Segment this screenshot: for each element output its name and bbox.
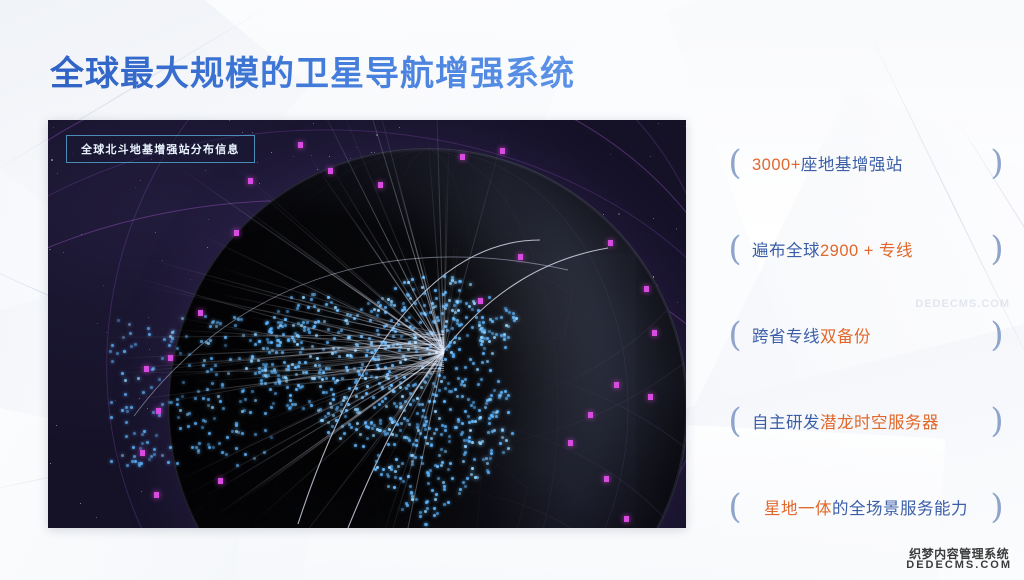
feature-item[interactable]: ( 星地一体的全场景服务能力 ) (726, 464, 1006, 550)
station-dot (224, 344, 227, 347)
station-dot (513, 319, 516, 322)
station-dot (381, 400, 384, 403)
station-dot (362, 445, 365, 448)
station-marker (248, 178, 253, 184)
station-dot (462, 481, 465, 484)
station-dot (461, 395, 464, 398)
station-dot (399, 361, 402, 364)
feature-text-part: 的全场景服务能力 (832, 500, 968, 518)
station-dot (241, 390, 244, 393)
station-dot (458, 280, 461, 283)
station-dot (373, 424, 376, 427)
station-dot (147, 327, 150, 330)
station-dot (486, 462, 489, 465)
station-dot (438, 417, 441, 420)
station-dot (331, 425, 334, 428)
station-dot (117, 319, 120, 322)
station-dot (481, 440, 484, 443)
station-dot (434, 464, 437, 467)
station-dot (150, 455, 153, 458)
bracket-right-icon: ) (988, 404, 1006, 438)
station-dot (489, 369, 492, 372)
station-dot (339, 437, 342, 440)
station-dot (459, 300, 462, 303)
station-dot (123, 350, 126, 353)
station-dot (240, 318, 243, 321)
station-dot (276, 339, 279, 342)
station-dot (483, 347, 486, 350)
station-marker (478, 298, 483, 304)
station-dot (482, 352, 485, 355)
station-dot (452, 353, 455, 356)
station-marker (500, 148, 505, 154)
station-dot (481, 340, 484, 343)
feature-text-part: 双备份 (820, 328, 871, 346)
station-marker (378, 182, 383, 188)
feature-text: 跨省专线双备份 (744, 323, 988, 347)
station-dot (124, 393, 127, 396)
station-marker (588, 412, 593, 418)
station-dot (426, 507, 429, 510)
station-marker (218, 478, 223, 484)
station-dot (491, 430, 494, 433)
feature-text-part: 星地一体 (764, 500, 832, 518)
bracket-left-icon: ( (726, 232, 744, 266)
station-dot (289, 406, 292, 409)
station-dot (179, 409, 182, 412)
station-dot (464, 485, 467, 488)
station-dot (346, 322, 349, 325)
feature-text-part: 自主研发 (752, 414, 820, 432)
station-dot (457, 420, 460, 423)
station-dot (299, 386, 302, 389)
station-dot (476, 368, 479, 371)
station-dot (373, 406, 376, 409)
station-dot (444, 425, 447, 428)
station-dot (226, 436, 229, 439)
station-dot (176, 462, 179, 465)
station-dot (426, 471, 429, 474)
station-dot (507, 336, 510, 339)
station-dot (155, 434, 158, 437)
station-dot (505, 397, 508, 400)
station-dot (461, 431, 464, 434)
station-dot (116, 352, 119, 355)
station-dot (335, 419, 338, 422)
station-dot (152, 411, 155, 414)
station-dot (150, 386, 153, 389)
station-dot (504, 346, 507, 349)
bracket-right-icon: ) (988, 318, 1006, 352)
station-dot (244, 453, 247, 456)
station-dot (310, 298, 313, 301)
station-dot (293, 340, 296, 343)
station-dot (405, 436, 408, 439)
station-marker (624, 516, 629, 522)
bracket-left-icon: ( (726, 146, 744, 180)
bracket-right-icon: ) (988, 146, 1006, 180)
station-dot (469, 358, 472, 361)
station-dot (493, 336, 496, 339)
station-dot (468, 436, 471, 439)
station-dot (498, 396, 501, 399)
station-dot (433, 507, 436, 510)
station-dot (121, 454, 124, 457)
station-dot (467, 398, 470, 401)
station-dot (472, 401, 475, 404)
station-dot (468, 421, 471, 424)
station-dot (138, 462, 141, 465)
station-dot (344, 415, 347, 418)
map-legend-badge: 全球北斗地基增强站分布信息 (66, 135, 255, 163)
station-dot (274, 392, 277, 395)
station-dot (377, 454, 380, 457)
station-dot (205, 341, 208, 344)
feature-text: 自主研发潜龙时空服务器 (744, 409, 988, 433)
watermark: 织梦内容管理系统 DEDECMS.COM (906, 548, 1012, 572)
station-dot (126, 464, 129, 467)
station-marker (154, 492, 159, 498)
station-dot (470, 473, 473, 476)
station-dot (284, 324, 287, 327)
station-dot (359, 433, 362, 436)
station-dot (234, 324, 237, 327)
station-dot (211, 382, 214, 385)
station-dot (508, 311, 511, 314)
station-dot (487, 471, 490, 474)
slide-root: 全球最大规模的卫星导航增强系统 (0, 0, 1024, 580)
station-marker (168, 355, 173, 361)
station-dot (490, 449, 493, 452)
station-dot (511, 432, 514, 435)
station-dot (451, 477, 454, 480)
station-dot (131, 460, 134, 463)
bracket-left-icon: ( (726, 404, 744, 438)
station-marker (140, 450, 145, 456)
station-dot (486, 360, 489, 363)
station-dot (128, 323, 131, 326)
station-dot (153, 448, 156, 451)
bracket-left-icon: ( (726, 490, 744, 524)
station-dot (176, 347, 179, 350)
station-dot (366, 437, 369, 440)
station-dot (343, 432, 346, 435)
feature-text-part: 3000+ (752, 156, 801, 174)
station-dot (465, 302, 468, 305)
station-dot (503, 333, 506, 336)
station-dot (435, 428, 438, 431)
feature-list: ( 3000+座地基增强站 ) ( 遍布全球2900 + 专线 ) ( 跨省专线… (726, 120, 1006, 550)
station-dot (302, 296, 305, 299)
station-dot (109, 350, 112, 353)
station-dot (387, 298, 390, 301)
station-dot (146, 441, 149, 444)
station-dot (472, 362, 475, 365)
feature-text: 星地一体的全场景服务能力 (744, 495, 988, 519)
station-dot (130, 406, 133, 409)
station-dot (500, 316, 503, 319)
station-marker (144, 366, 149, 372)
faint-watermark: DEDECMS.COM (915, 298, 1010, 310)
station-dot (464, 451, 467, 454)
station-dot (478, 324, 481, 327)
station-dot (408, 423, 411, 426)
station-dot (121, 409, 124, 412)
station-dot (395, 434, 398, 437)
station-dot (177, 416, 180, 419)
station-dot (440, 464, 443, 467)
station-dot (473, 458, 476, 461)
station-dot (433, 514, 436, 517)
station-dot (387, 475, 390, 478)
station-dot (490, 452, 493, 455)
station-dot (239, 400, 242, 403)
station-dot (434, 289, 437, 292)
station-dot (427, 474, 430, 477)
globe-image-panel: 全球北斗地基增强站分布信息 (48, 120, 686, 528)
station-marker (604, 476, 609, 482)
station-marker (518, 254, 523, 260)
station-dot (201, 426, 204, 429)
station-dot (448, 435, 451, 438)
watermark-en: DEDECMS.COM (906, 560, 1012, 572)
station-dot (424, 510, 427, 513)
station-dot (437, 477, 440, 480)
bracket-right-icon: ) (988, 232, 1006, 266)
feature-text-part: 遍布全球 (752, 242, 820, 260)
station-dot (110, 401, 113, 404)
station-dot (332, 377, 335, 380)
station-dot (458, 324, 461, 327)
feature-text-part: 座地基增强站 (801, 156, 903, 174)
feature-item[interactable]: ( 自主研发潜龙时空服务器 ) (726, 378, 1006, 464)
station-dot (484, 406, 487, 409)
station-dot (434, 498, 437, 501)
station-dot (269, 388, 272, 391)
station-dot (444, 358, 447, 361)
station-dot (289, 399, 292, 402)
station-dot (427, 482, 430, 485)
station-dot (419, 515, 422, 518)
feature-text-part: 2900 + 专线 (820, 242, 913, 260)
feature-text: 3000+座地基增强站 (744, 151, 988, 175)
station-dot (394, 470, 397, 473)
station-dot (110, 416, 113, 419)
station-dot (210, 368, 213, 371)
station-dot (454, 426, 457, 429)
station-dot (487, 431, 490, 434)
station-dot (303, 329, 306, 332)
station-dot (409, 485, 412, 488)
station-dot (497, 380, 500, 383)
station-dot (491, 332, 494, 335)
station-dot (258, 340, 261, 343)
feature-text: 遍布全球2900 + 专线 (744, 237, 988, 261)
station-dot (251, 390, 254, 393)
station-dot (451, 309, 454, 312)
station-dot (482, 321, 485, 324)
station-dot (461, 380, 464, 383)
page-title: 全球最大规模的卫星导航增强系统 (50, 46, 575, 95)
station-marker (644, 286, 649, 292)
station-dot (350, 426, 353, 429)
station-dot (133, 455, 136, 458)
station-dot (430, 444, 433, 447)
station-marker (460, 154, 465, 160)
station-dot (444, 429, 447, 432)
station-dot (464, 410, 467, 413)
station-dot (249, 411, 252, 414)
station-dot (213, 417, 216, 420)
station-marker (568, 440, 573, 446)
bracket-left-icon: ( (726, 318, 744, 352)
station-dot (125, 421, 128, 424)
station-dot (491, 320, 494, 323)
station-dot (488, 417, 491, 420)
station-dot (466, 477, 469, 480)
station-dot (272, 402, 275, 405)
station-dot (448, 440, 451, 443)
station-marker (608, 240, 613, 246)
station-dot (375, 460, 378, 463)
station-dot (217, 395, 220, 398)
station-dot (405, 502, 408, 505)
station-dot (395, 458, 398, 461)
station-dot (431, 489, 434, 492)
station-dot (393, 390, 396, 393)
station-dot (391, 433, 394, 436)
station-dot (492, 411, 495, 414)
station-dot (132, 446, 135, 449)
station-marker (614, 382, 619, 388)
station-dot (490, 394, 493, 397)
feature-text-part: 跨省专线 (752, 328, 820, 346)
station-dot (265, 363, 268, 366)
station-dot (468, 440, 471, 443)
station-dot (207, 404, 210, 407)
station-dot (488, 398, 491, 401)
station-dot (408, 439, 411, 442)
station-dot (488, 422, 491, 425)
station-marker (198, 310, 203, 316)
station-dot (325, 377, 328, 380)
station-dot (480, 336, 483, 339)
station-dot (374, 468, 377, 471)
station-dot (231, 430, 234, 433)
station-dot (488, 340, 491, 343)
station-dot (425, 501, 428, 504)
station-dot (458, 492, 461, 495)
station-dot (270, 341, 273, 344)
station-dot (289, 394, 292, 397)
bracket-right-icon: ) (988, 490, 1006, 524)
station-dot (264, 429, 267, 432)
station-dot (444, 450, 447, 453)
station-marker (156, 408, 161, 414)
station-dot (168, 344, 171, 347)
station-dot (377, 309, 380, 312)
station-dot (191, 446, 194, 449)
station-dot (215, 373, 218, 376)
station-dot (137, 377, 140, 380)
station-dot (286, 404, 289, 407)
station-dot (489, 457, 492, 460)
station-dot (211, 406, 214, 409)
station-dot (254, 433, 257, 436)
station-dot (124, 379, 127, 382)
station-dot (111, 360, 114, 363)
station-dot (373, 308, 376, 311)
station-dot (440, 380, 443, 383)
station-marker (652, 330, 657, 336)
station-dot (169, 446, 172, 449)
feature-text-part: 潜龙时空服务器 (820, 414, 939, 432)
station-marker (328, 168, 333, 174)
station-dot (503, 338, 506, 341)
station-dot (447, 468, 450, 471)
station-dot (254, 399, 257, 402)
station-dot (440, 433, 443, 436)
feature-item[interactable]: ( 3000+座地基增强站 ) (726, 120, 1006, 206)
station-dot (440, 448, 443, 451)
station-marker (648, 394, 653, 400)
station-dot (458, 348, 461, 351)
station-dot (481, 316, 484, 319)
station-dot (471, 308, 474, 311)
station-dot (457, 377, 460, 380)
station-dot (421, 403, 424, 406)
station-dot (476, 476, 479, 479)
station-dot (235, 424, 238, 427)
station-dot (495, 333, 498, 336)
station-dot (235, 430, 238, 433)
station-dot (387, 485, 390, 488)
station-dot (176, 403, 179, 406)
station-dot (187, 425, 190, 428)
station-dot (126, 410, 129, 413)
station-dot (221, 451, 224, 454)
station-dot (354, 444, 357, 447)
feature-item[interactable]: ( 遍布全球2900 + 专线 ) (726, 206, 1006, 292)
station-dot (501, 436, 504, 439)
station-dot (473, 302, 476, 305)
station-dot (451, 327, 454, 330)
station-dot (361, 374, 364, 377)
station-marker (234, 230, 239, 236)
station-dot (415, 498, 418, 501)
station-dot (505, 439, 508, 442)
station-dot (397, 465, 400, 468)
station-marker (298, 142, 303, 148)
station-dot (443, 400, 446, 403)
station-dot (448, 344, 451, 347)
